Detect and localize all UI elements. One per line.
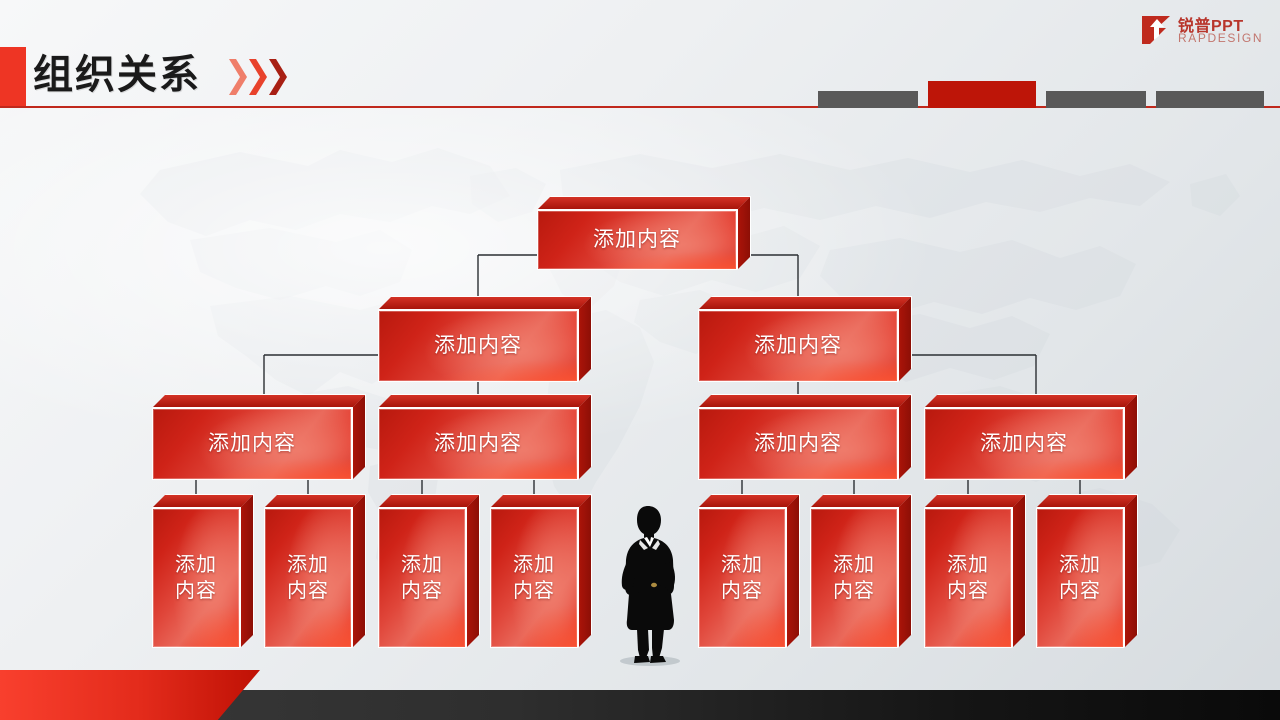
org-node-n10[interactable]: 添加 内容 [378, 508, 466, 648]
node-top-face [698, 494, 800, 508]
org-node-n14[interactable]: 添加 内容 [924, 508, 1012, 648]
node-top-face [810, 494, 912, 508]
node-label: 添加内容 [537, 210, 737, 270]
node-side-face [352, 394, 366, 480]
org-node-n9[interactable]: 添加 内容 [264, 508, 352, 648]
node-top-face [698, 394, 912, 408]
org-node-n11[interactable]: 添加 内容 [490, 508, 578, 648]
node-top-face [924, 394, 1138, 408]
node-label: 添加内容 [378, 310, 578, 382]
node-label: 添加 内容 [698, 508, 786, 648]
bottom-red-accent [0, 670, 260, 720]
node-label: 添加 内容 [924, 508, 1012, 648]
node-top-face [490, 494, 592, 508]
node-label: 添加 内容 [1036, 508, 1124, 648]
org-node-n8[interactable]: 添加 内容 [152, 508, 240, 648]
node-top-face [924, 494, 1026, 508]
org-node-n12[interactable]: 添加 内容 [698, 508, 786, 648]
node-side-face [1012, 494, 1026, 648]
node-top-face [152, 494, 254, 508]
node-side-face [898, 394, 912, 480]
org-node-n13[interactable]: 添加 内容 [810, 508, 898, 648]
node-top-face [378, 394, 592, 408]
node-side-face [786, 494, 800, 648]
node-side-face [466, 494, 480, 648]
businesswoman-silhouette [604, 500, 698, 668]
node-top-face [698, 296, 912, 310]
node-side-face [1124, 494, 1138, 648]
node-top-face [1036, 494, 1138, 508]
node-label: 添加 内容 [378, 508, 466, 648]
node-label: 添加 内容 [152, 508, 240, 648]
node-label: 添加内容 [152, 408, 352, 480]
node-label: 添加内容 [924, 408, 1124, 480]
node-label: 添加内容 [698, 408, 898, 480]
node-side-face [240, 494, 254, 648]
org-node-n4[interactable]: 添加内容 [152, 408, 352, 480]
node-label: 添加 内容 [264, 508, 352, 648]
node-top-face [378, 494, 480, 508]
node-side-face [578, 494, 592, 648]
slide-canvas: 组织关系 锐普PPT RAPDESIGN 添加内容添加内容添加内容添加内容添加内… [0, 0, 1280, 720]
node-side-face [1124, 394, 1138, 480]
org-node-n7[interactable]: 添加内容 [924, 408, 1124, 480]
org-node-n1[interactable]: 添加内容 [537, 210, 737, 270]
node-label: 添加 内容 [490, 508, 578, 648]
org-node-n2[interactable]: 添加内容 [378, 310, 578, 382]
org-node-n5[interactable]: 添加内容 [378, 408, 578, 480]
node-side-face [898, 494, 912, 648]
node-label: 添加内容 [378, 408, 578, 480]
org-node-n3[interactable]: 添加内容 [698, 310, 898, 382]
node-top-face [264, 494, 366, 508]
node-side-face [898, 296, 912, 382]
node-side-face [352, 494, 366, 648]
node-label: 添加 内容 [810, 508, 898, 648]
org-node-n6[interactable]: 添加内容 [698, 408, 898, 480]
node-top-face [537, 196, 751, 210]
node-side-face [578, 394, 592, 480]
node-top-face [152, 394, 366, 408]
node-label: 添加内容 [698, 310, 898, 382]
node-side-face [578, 296, 592, 382]
node-top-face [378, 296, 592, 310]
org-node-n15[interactable]: 添加 内容 [1036, 508, 1124, 648]
